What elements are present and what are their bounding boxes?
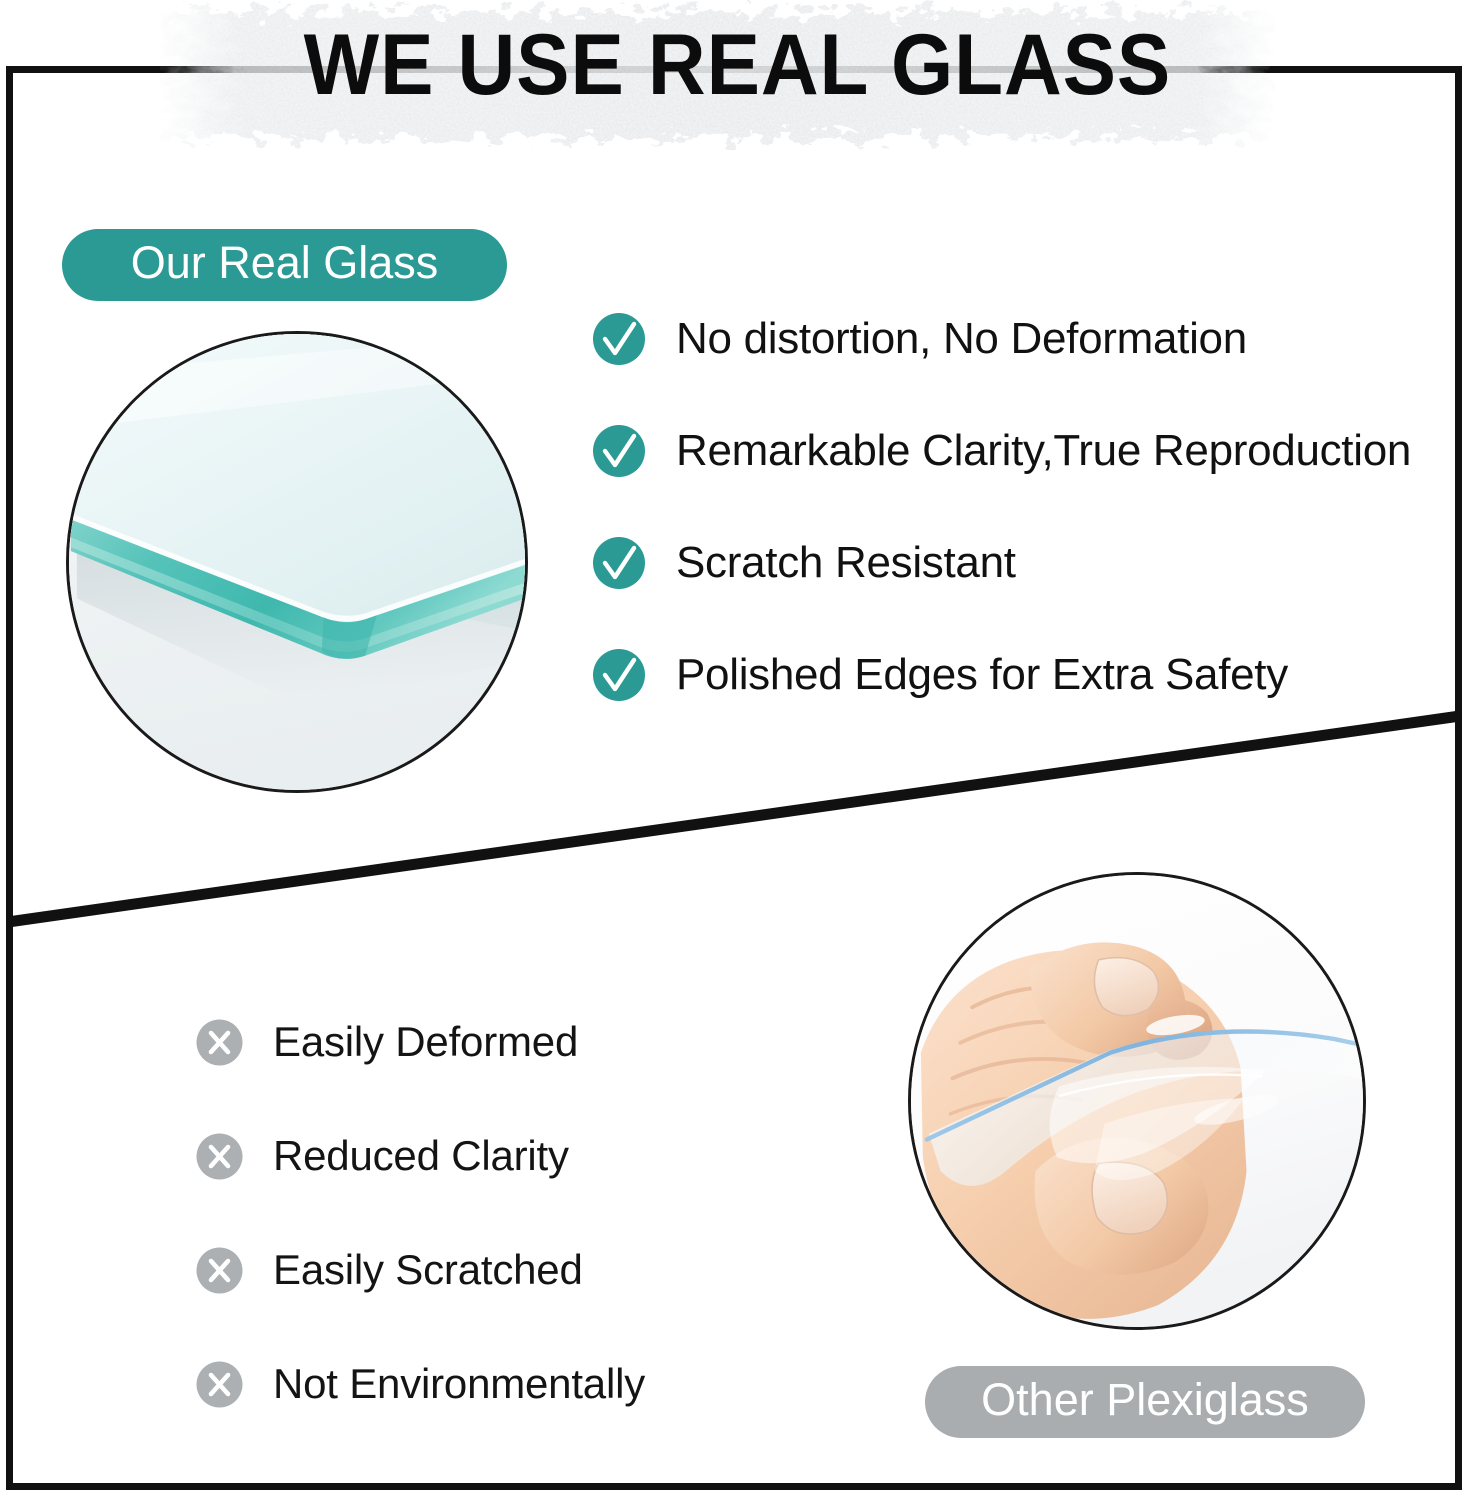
page-title: WE USE REAL GLASS [0,22,1474,108]
list-item-label: Polished Edges for Extra Safety [676,653,1288,697]
list-item-label: No distortion, No Deformation [676,317,1247,361]
other-plexiglass-badge-label: Other Plexiglass [981,1377,1309,1422]
other-plexiglass-badge: Other Plexiglass [925,1366,1365,1438]
page-title-text: WE USE REAL GLASS [303,22,1171,108]
list-item: Easily Deformed [196,985,896,1099]
x-circle-icon [196,1019,243,1066]
cons-list: Easily Deformed Reduced Clarity Easily S… [196,985,896,1441]
product-comparison-infographic: WE USE REAL GLASS Our Real Glass [0,0,1474,1500]
list-item-label: Easily Deformed [273,1021,578,1063]
list-item-label: Easily Scratched [273,1249,583,1291]
list-item-label: Not Environmentally [273,1363,645,1405]
list-item-label: Scratch Resistant [676,541,1016,585]
check-circle-icon [592,312,646,366]
list-item: Reduced Clarity [196,1099,896,1213]
real-glass-photo [66,331,528,793]
check-circle-icon [592,648,646,702]
list-item: Easily Scratched [196,1213,896,1327]
plexiglass-photo [908,872,1366,1330]
x-circle-icon [196,1247,243,1294]
list-item: No distortion, No Deformation [592,283,1458,395]
x-circle-icon [196,1133,243,1180]
our-real-glass-badge: Our Real Glass [62,229,507,301]
check-circle-icon [592,536,646,590]
check-circle-icon [592,424,646,478]
list-item: Polished Edges for Extra Safety [592,619,1458,731]
our-real-glass-badge-label: Our Real Glass [131,240,439,285]
list-item-label: Reduced Clarity [273,1135,569,1177]
pros-list: No distortion, No Deformation Remarkable… [592,283,1458,731]
list-item-label: Remarkable Clarity,True Reproduction [676,429,1411,473]
list-item: Remarkable Clarity,True Reproduction [592,395,1458,507]
list-item: Not Environmentally [196,1327,896,1441]
x-circle-icon [196,1361,243,1408]
list-item: Scratch Resistant [592,507,1458,619]
